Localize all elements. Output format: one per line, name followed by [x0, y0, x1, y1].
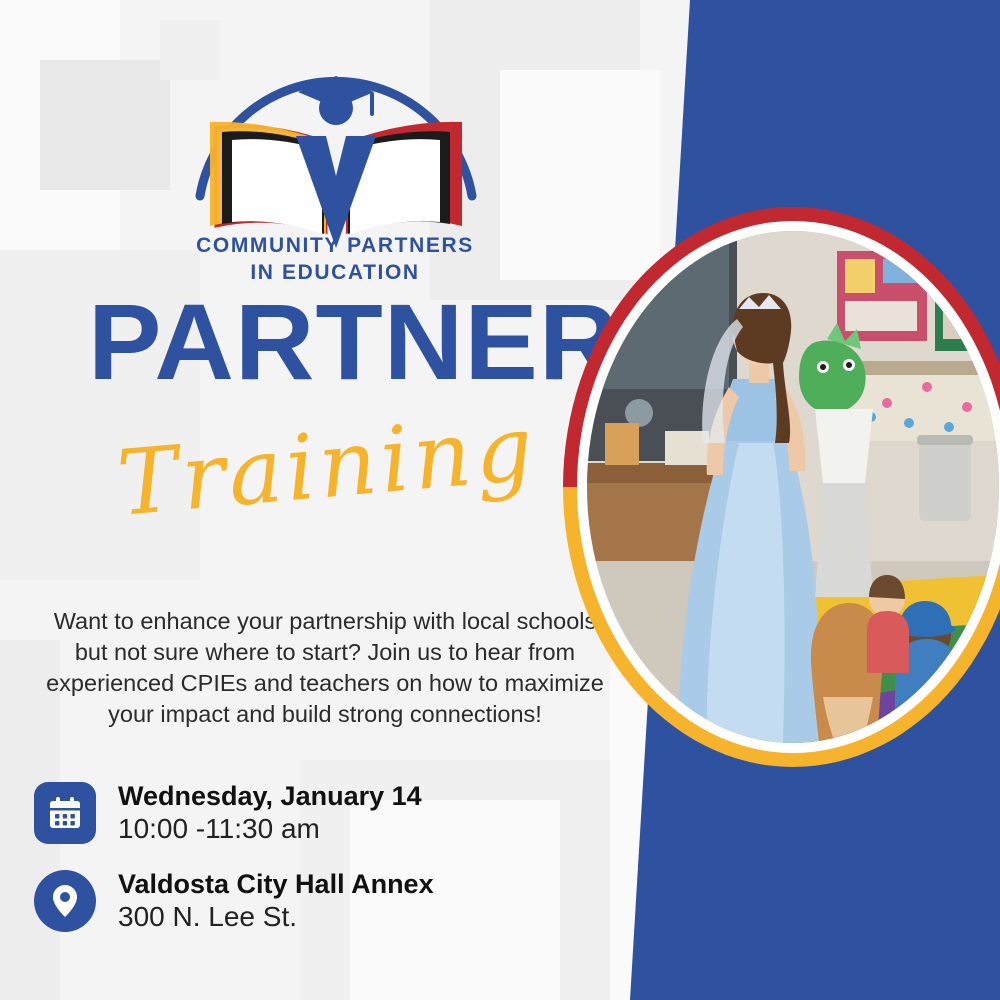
event-details: Wednesday, January 14 10:00 -11:30 am Va…: [34, 780, 434, 956]
detail-text-location: Valdosta City Hall Annex 300 N. Lee St.: [118, 868, 434, 934]
organization-name: COMMUNITY PARTNERS IN EDUCATION: [150, 232, 520, 286]
calendar-icon: [34, 782, 96, 844]
detail-location-line1: Valdosta City Hall Annex: [118, 868, 434, 900]
detail-row-date: Wednesday, January 14 10:00 -11:30 am: [34, 780, 434, 846]
detail-row-location: Valdosta City Hall Annex 300 N. Lee St.: [34, 868, 434, 934]
photo-circle: [563, 207, 1000, 767]
body-paragraph: Want to enhance your partnership with lo…: [40, 606, 610, 730]
headline-title: PARTNER: [88, 292, 557, 392]
detail-location-line2: 300 N. Lee St.: [118, 900, 434, 934]
poster-canvas: COMMUNITY PARTNERS IN EDUCATION PARTNER …: [0, 0, 1000, 1000]
decor-shape-2: [40, 60, 170, 190]
detail-text-date: Wednesday, January 14 10:00 -11:30 am: [118, 780, 422, 846]
organization-name-line1: COMMUNITY PARTNERS: [150, 232, 520, 259]
map-pin-icon: [34, 870, 96, 932]
detail-date-line2: 10:00 -11:30 am: [118, 812, 422, 846]
event-photo-illustration: [587, 231, 999, 743]
detail-date-line1: Wednesday, January 14: [118, 780, 422, 812]
event-photo: [587, 231, 999, 743]
